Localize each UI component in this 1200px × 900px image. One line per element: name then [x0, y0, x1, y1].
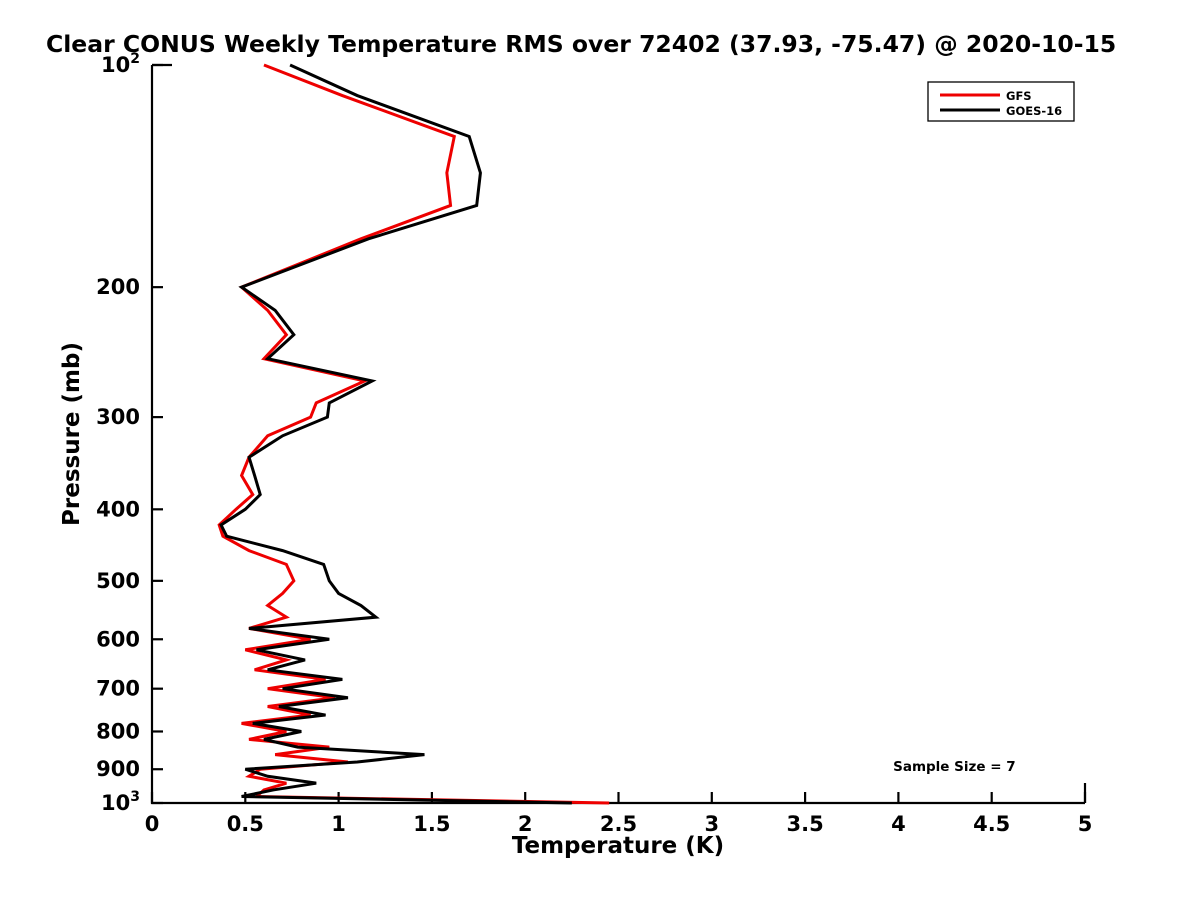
y-tick-label: 900: [96, 757, 140, 781]
x-tick-label: 3.5: [786, 812, 823, 836]
series-line-gfs: [219, 65, 609, 803]
y-tick-label: 200: [96, 275, 140, 299]
page-title: Clear CONUS Weekly Temperature RMS over …: [46, 30, 1116, 58]
x-tick-label: 5: [1078, 812, 1093, 836]
y-tick-label: 400: [96, 497, 140, 521]
y-tick-label: 700: [96, 677, 140, 701]
legend-label-gfs: GFS: [1006, 89, 1032, 103]
legend-label-goes16: GOES-16: [1006, 104, 1062, 118]
data-series-group: [219, 65, 609, 803]
y-tick-label: 800: [96, 719, 140, 743]
annotations-group: Sample Size = 7: [893, 759, 1016, 775]
sample-size-annotation: Sample Size = 7: [893, 759, 1016, 775]
y-axis-label: Pressure (mb): [59, 342, 85, 526]
temperature-rms-profile-chart: Clear CONUS Weekly Temperature RMS over …: [0, 0, 1200, 900]
y-tick-label: 300: [96, 405, 140, 429]
x-tick-label: 1: [331, 812, 346, 836]
y-tick-label: 500: [96, 569, 140, 593]
x-tick-label: 4.5: [973, 812, 1010, 836]
x-tick-label: 0: [145, 812, 160, 836]
y-tick-label: 103: [101, 789, 140, 815]
y-tick-label: 600: [96, 627, 140, 651]
x-tick-label: 1.5: [413, 812, 450, 836]
y-tick-label: 102: [101, 51, 140, 77]
x-axis-label: Temperature (K): [512, 833, 724, 859]
x-tick-label: 0.5: [227, 812, 264, 836]
legend[interactable]: GFS GOES-16: [928, 82, 1074, 121]
x-tick-label: 4: [891, 812, 906, 836]
